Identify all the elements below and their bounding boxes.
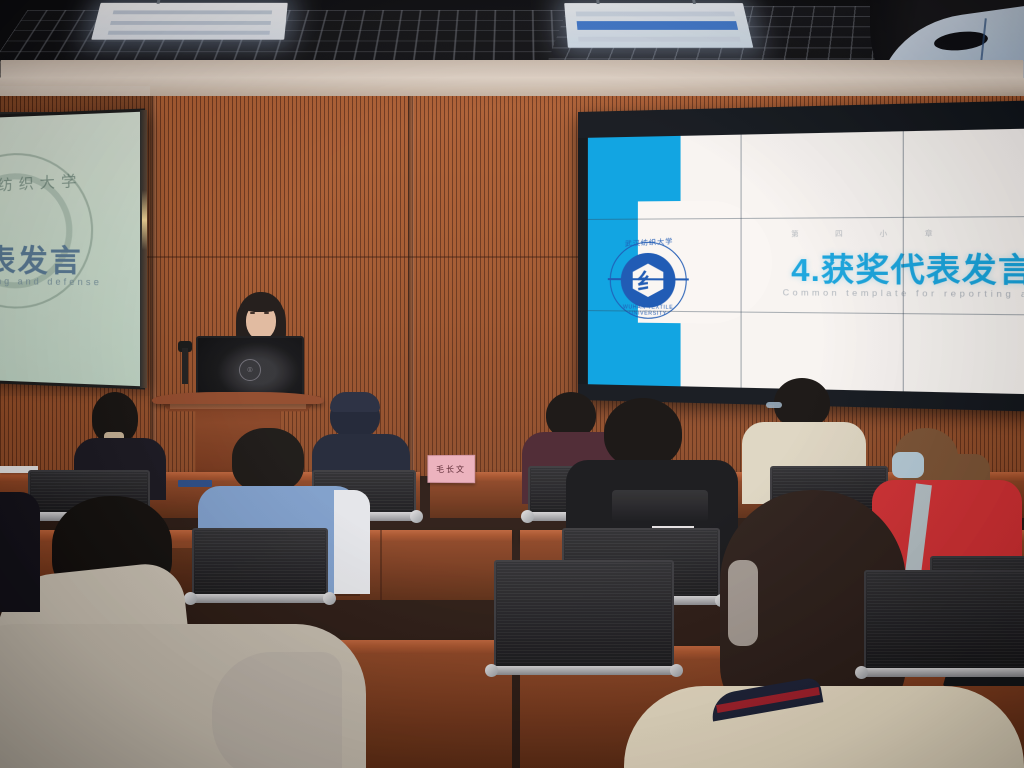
projection-title: 代表发言 [0,236,83,281]
face-mask [892,452,924,478]
blue-notebook [178,480,212,487]
table-nameplate: 毛长文 [427,455,475,483]
wuhan-textile-university-logo: 纟 武汉纺织大学 WUHAN TEXTILE UNIVERSITY [610,242,687,319]
led-video-wall: 纟 武汉纺织大学 WUHAN TEXTILE UNIVERSITY 第 四 小 … [578,100,1024,413]
desk-seam [380,530,382,600]
mask-ear-strap [728,560,758,646]
jacket-print-graphic [612,490,708,522]
presentation-slide: 纟 武汉纺织大学 WUHAN TEXTILE UNIVERSITY 第 四 小 … [588,128,1024,395]
sweater-white-panel [334,490,370,594]
rail-light-glint [142,190,147,250]
slide-eyebrow: 第 四 小 章 [791,228,950,239]
podium-highlight [170,404,306,409]
beanie-cap [330,392,380,412]
projection-subtitle: reporting and defense [0,276,102,288]
nameplate-text: 毛长文 [436,463,466,474]
conference-room-photo: 武汉纺织大学 代表发言 reporting and defense 纟 武汉纺织… [0,0,1024,768]
projection-screen: 武汉纺织大学 代表发言 reporting and defense [0,112,142,387]
slide-title: 4.获奖代表发言 [791,243,1024,292]
podium-top-surface [152,392,324,404]
chair-row2-a [192,528,328,596]
hoodie-arm [212,652,342,768]
ceiling-light-panel-right [564,3,753,48]
ceiling-light-panel-left [91,3,288,40]
dell-logo-icon: ⌾ [239,359,261,381]
chair-row3-b [864,570,1024,670]
gooseneck-microphone [182,348,188,384]
chair-row3-a [494,560,674,668]
audience-partial-left-edge [0,492,40,612]
glasses-icon [766,402,782,408]
